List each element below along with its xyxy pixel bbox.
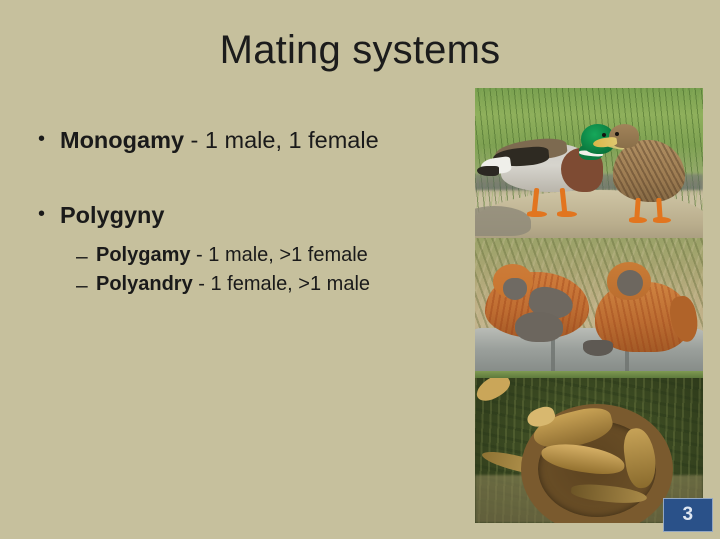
term-label: Polygamy: [96, 244, 190, 266]
definition-label: - 1 male, 1 female: [184, 127, 379, 153]
spacer: [34, 159, 464, 201]
image-stack: [475, 88, 703, 523]
drake-foot: [557, 211, 577, 217]
list-item-text: Polygyny: [60, 201, 464, 230]
orangutan-hand: [583, 340, 613, 356]
list-item: – Polygamy - 1 male, >1 female: [34, 243, 464, 270]
term-label: Polygyny: [60, 202, 164, 228]
list-item: – Polyandry - 1 female, >1 male: [34, 272, 464, 299]
definition-label: - 1 male, >1 female: [190, 244, 367, 266]
list-item-text: Monogamy - 1 male, 1 female: [60, 126, 464, 155]
list-item: • Polygyny: [34, 201, 464, 230]
list-item-text: Polygamy - 1 male, >1 female: [96, 243, 464, 268]
mallard-duck-pair-image: [475, 88, 703, 238]
hen-foot: [629, 217, 647, 223]
drake-tail-tip: [477, 166, 499, 176]
orangutan-pair-image: [475, 238, 703, 378]
list-item-text: Polyandry - 1 female, >1 male: [96, 272, 464, 297]
grass-strip: [475, 371, 703, 378]
list-item: • Monogamy - 1 male, 1 female: [34, 126, 464, 155]
orangutan-infant: [515, 312, 563, 342]
term-label: Monogamy: [60, 127, 184, 153]
bullet-dot-icon: •: [38, 201, 60, 228]
bullet-dot-icon: •: [38, 126, 60, 153]
definition-label: - 1 female, >1 male: [193, 273, 370, 295]
spacer: [34, 235, 464, 243]
orangutan-right-face: [617, 270, 643, 296]
hen-eye: [615, 132, 619, 136]
hen-foot: [653, 217, 671, 223]
bullet-dash-icon: –: [76, 272, 96, 299]
page-title: Mating systems: [0, 28, 720, 72]
orangutan-left-face: [503, 278, 527, 300]
presentation-slide: Mating systems • Monogamy - 1 male, 1 fe…: [0, 0, 720, 539]
slide-number-badge: 3: [663, 498, 713, 532]
drake-eye: [602, 133, 606, 137]
bullet-dash-icon: –: [76, 243, 96, 270]
bullet-list: • Monogamy - 1 male, 1 female • Polygyny…: [34, 126, 464, 301]
term-label: Polyandry: [96, 273, 193, 295]
drake-foot: [527, 211, 547, 217]
